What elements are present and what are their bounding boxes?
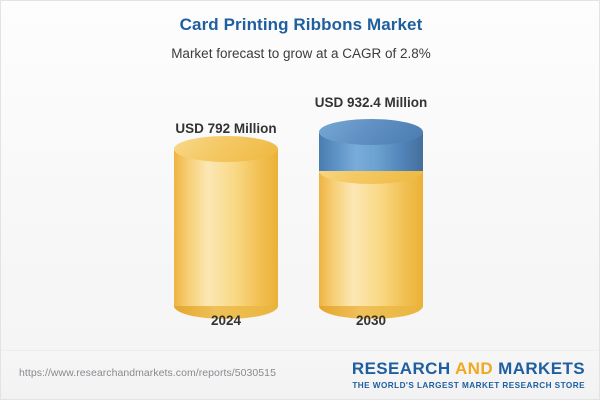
logo-text-markets: MARKETS [498, 359, 585, 378]
chart-card: Card Printing Ribbons Market Market fore… [0, 0, 600, 400]
cylinder-body-2024 [174, 149, 278, 306]
cylinder-top-ellipse-2024 [174, 136, 278, 162]
chart-footer: https://www.researchandmarkets.com/repor… [1, 350, 600, 399]
research-and-markets-logo[interactable]: RESEARCH AND MARKETS THE WORLD'S LARGEST… [352, 359, 585, 390]
logo-text-research: RESEARCH [352, 359, 455, 378]
logo-wordmark: RESEARCH AND MARKETS [352, 359, 585, 379]
logo-text-and: AND [455, 359, 498, 378]
bar-value-label-2024: USD 792 Million [126, 121, 326, 136]
bar-value-label-2030: USD 932.4 Million [271, 95, 471, 110]
chart-plot-area: USD 792 Million 2024 USD 932.4 Million [1, 1, 600, 351]
logo-tagline: THE WORLD'S LARGEST MARKET RESEARCH STOR… [352, 379, 585, 390]
bar-category-label-2030: 2030 [271, 313, 471, 328]
report-url[interactable]: https://www.researchandmarkets.com/repor… [19, 367, 276, 379]
cylinder-body-base-2030 [319, 171, 423, 306]
cylinder-top-ellipse-2030 [319, 119, 423, 145]
